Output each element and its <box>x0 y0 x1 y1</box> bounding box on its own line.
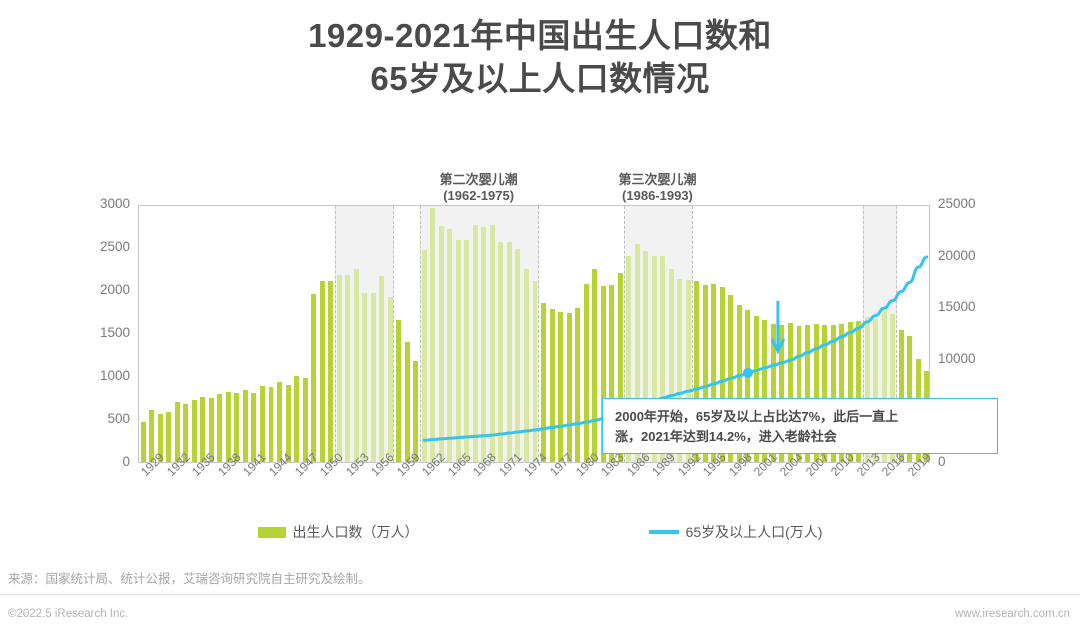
legend-item-elderly: 65岁及以上人口(万人) <box>649 522 823 542</box>
y-tick-right: 15000 <box>938 299 976 314</box>
y-tick-left: 0 <box>122 454 130 469</box>
y-tick-right: 25000 <box>938 196 976 211</box>
boom-3-label: 第三次婴儿潮(1986-1993) <box>597 172 717 204</box>
y-tick-left: 2000 <box>100 282 130 297</box>
callout-box: 2000年开始，65岁及以上占比达7%，此后一直上 涨，2021年达到14.2%… <box>602 398 998 454</box>
footer-website: www.iresearch.com.cn <box>955 608 1070 620</box>
title-line-2: 65岁及以上人口数情况 <box>0 57 1080 100</box>
legend-label-elderly: 65岁及以上人口(万人) <box>686 522 823 542</box>
boom-3-title: 第三次婴儿潮 <box>597 172 717 188</box>
y-tick-left: 1500 <box>100 325 130 340</box>
y-tick-right: 0 <box>938 454 946 469</box>
chart-legend: 出生人口数（万人） 65岁及以上人口(万人) <box>0 522 1080 542</box>
page-title: 1929-2021年中国出生人口数和 65岁及以上人口数情况 <box>0 14 1080 100</box>
y-tick-left: 500 <box>107 411 130 426</box>
y-tick-left: 2500 <box>100 239 130 254</box>
footer-divider <box>0 594 1080 595</box>
y-tick-right: 10000 <box>938 351 976 366</box>
chart-container: 050010001500200025003000 050001000015000… <box>70 170 1020 515</box>
boom-2-label: 第二次婴儿潮(1962-1975) <box>419 172 539 204</box>
title-line-1: 1929-2021年中国出生人口数和 <box>0 14 1080 57</box>
callout-line-2: 涨，2021年达到14.2%，进入老龄社会 <box>615 427 985 447</box>
callout-line-1: 2000年开始，65岁及以上占比达7%，此后一直上 <box>615 407 985 427</box>
legend-swatch-line-icon <box>649 530 679 534</box>
y-tick-left: 1000 <box>100 368 130 383</box>
boom-2-title: 第二次婴儿潮 <box>419 172 539 188</box>
down-arrow-icon <box>772 301 784 351</box>
legend-swatch-bar-icon <box>258 527 286 538</box>
marker-point-2000 <box>743 368 753 378</box>
y-tick-right: 20000 <box>938 248 976 263</box>
legend-label-births: 出生人口数（万人） <box>293 522 419 542</box>
legend-item-births: 出生人口数（万人） <box>258 522 419 542</box>
footer-copyright: ©2022.5 iResearch Inc. <box>8 608 128 620</box>
boom-2-range: (1962-1975) <box>419 188 539 204</box>
y-tick-left: 3000 <box>100 196 130 211</box>
boom-3-range: (1986-1993) <box>597 188 717 204</box>
source-note: 来源：国家统计局、统计公报，艾瑞咨询研究院自主研究及绘制。 <box>8 568 371 587</box>
